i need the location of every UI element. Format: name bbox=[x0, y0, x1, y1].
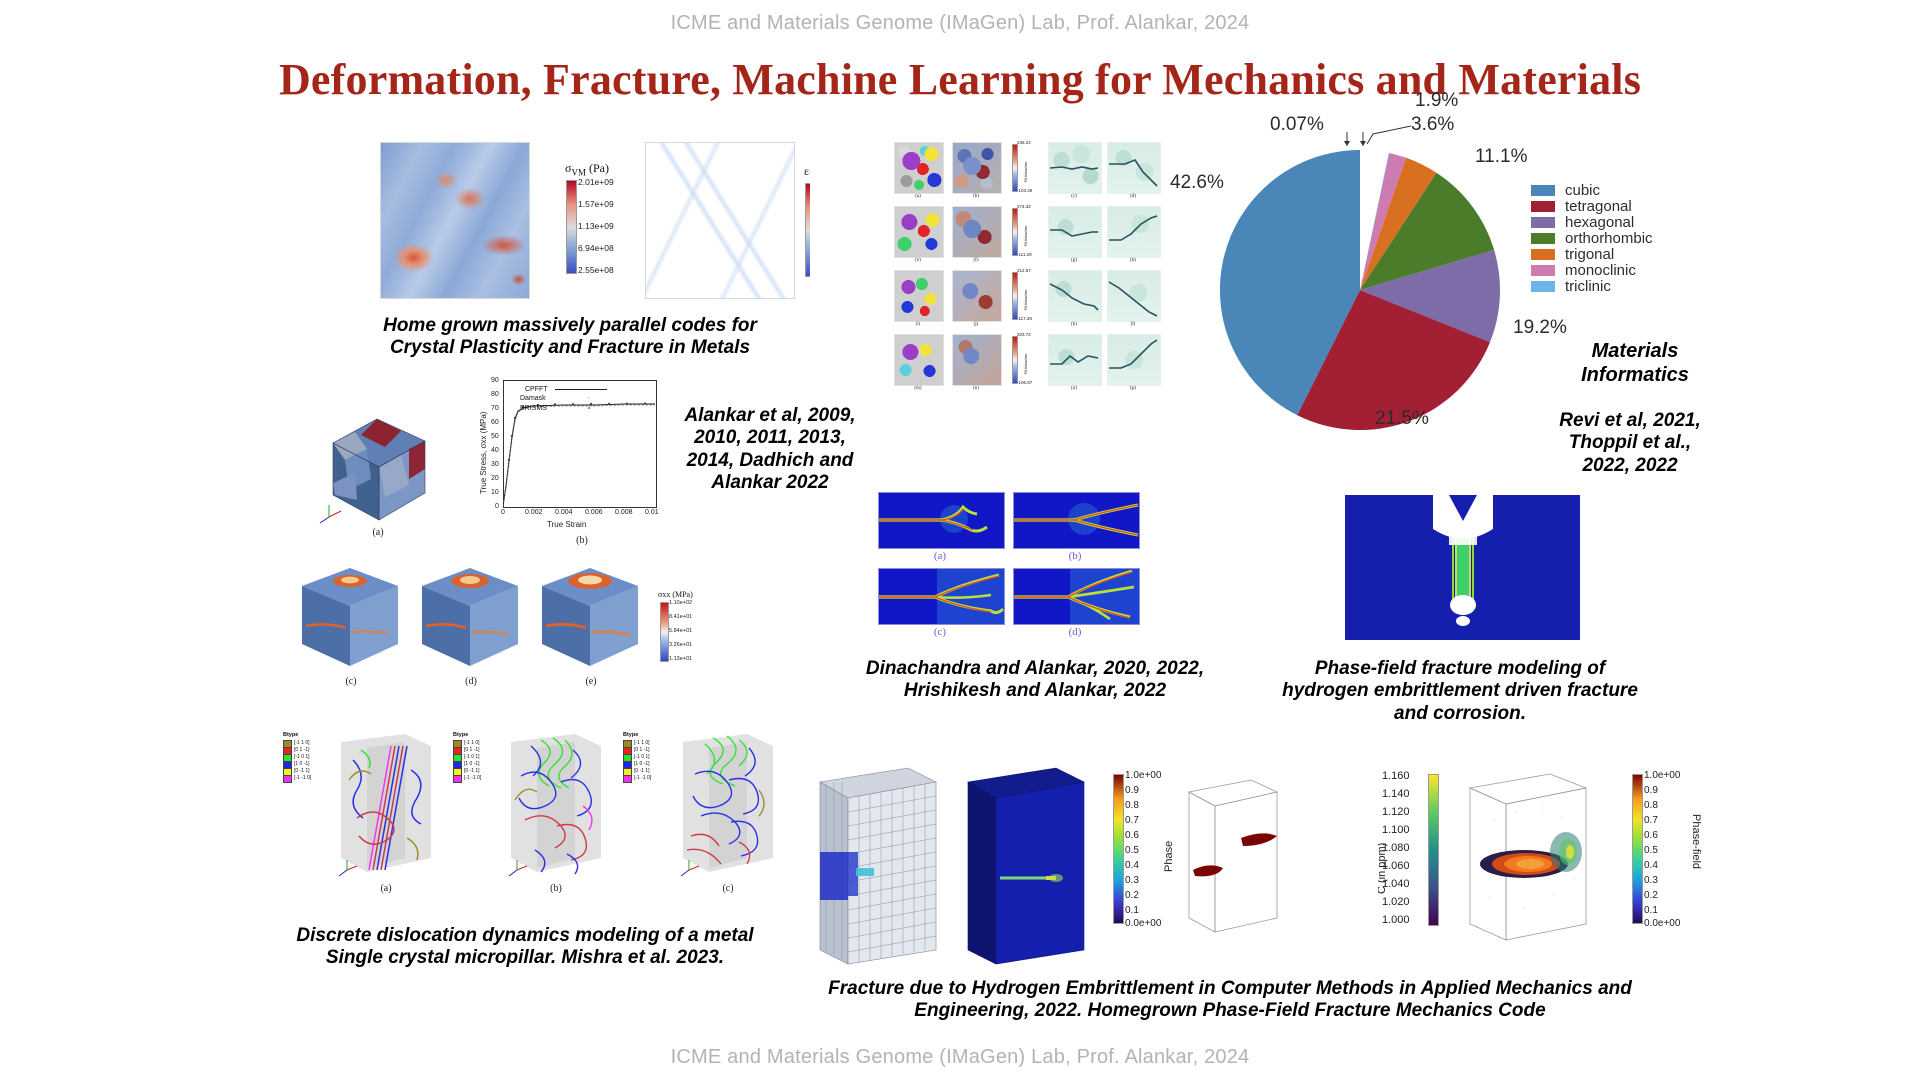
stress-tick-2: 1.13e+09 bbox=[578, 221, 614, 231]
pf-tick-3: 0.7 bbox=[1644, 815, 1658, 826]
stress-tick-4: 2.55e+08 bbox=[578, 265, 614, 275]
conc-tick-0: 1.160 bbox=[1382, 770, 1410, 782]
legend-swatch-cubic bbox=[1531, 185, 1555, 196]
legend-label-cpfft: CPFFT bbox=[525, 386, 547, 393]
ss-ytick-90: 90 bbox=[491, 377, 499, 384]
btype-label-0: [-1 1 0] bbox=[634, 740, 650, 747]
ss-xtick-001: 0.01 bbox=[645, 509, 659, 516]
phase-colorbar-1 bbox=[1113, 774, 1124, 924]
pf-tick-7: 0.3 bbox=[1644, 875, 1658, 886]
crack-path-a bbox=[879, 493, 1004, 548]
fracture-tick-3: 3.26e+01 bbox=[669, 642, 692, 648]
fracture-cubes-figure: (c) (d) (e) σxx (MPa) 1.10e+02 8.41e+01 bbox=[288, 560, 708, 710]
btype-label-1: [0 1 -1] bbox=[294, 747, 310, 754]
he-caption-line1: Fracture due to Hydrogen Embrittlement i… bbox=[780, 978, 1680, 1000]
crack-panel-c bbox=[878, 568, 1005, 625]
ref-line-1: Alankar et al, 2009, bbox=[655, 405, 885, 427]
conc-tick-1: 1.140 bbox=[1382, 788, 1410, 800]
legend-text-orthorhombic: orthorhombic bbox=[1565, 230, 1653, 247]
ref-line-3: 2014, Dadhich and bbox=[655, 450, 885, 472]
btype-legend-c: Btype [-1 1 0] [0 1 -1] [-1 0 1] [1 0 -1… bbox=[623, 732, 651, 782]
strain-colorbar-title: εVM bbox=[804, 164, 810, 180]
btype-legend-a: Btype [-1 1 0] [0 1 -1] [-1 0 1] [1 0 -1… bbox=[283, 732, 311, 782]
phase1-tick-4: 0.6 bbox=[1125, 830, 1139, 841]
legend-item-orthorhombic: orthorhombic bbox=[1531, 230, 1653, 246]
btype-label-5: [-1 -1 0] bbox=[464, 775, 481, 782]
pf-tick-4: 0.6 bbox=[1644, 830, 1658, 841]
footer-ribbon: ICME and Materials Genome (IMaGen) Lab, … bbox=[0, 1046, 1920, 1069]
cb-caption-line1: Dinachandra and Alankar, 2020, 2022, bbox=[820, 658, 1250, 680]
btype-label-3: [1 0 -1] bbox=[464, 761, 480, 768]
phase-specimen-svg bbox=[960, 760, 1090, 970]
btype-swatch-5 bbox=[453, 775, 462, 783]
ss-ytick-50: 50 bbox=[491, 433, 499, 440]
legend-text-hexagonal: hexagonal bbox=[1565, 214, 1634, 231]
btype-label-1: [0 1 -1] bbox=[634, 747, 650, 754]
phase1-tick-3: 0.7 bbox=[1125, 815, 1139, 826]
orientation-colorbar-1 bbox=[1012, 144, 1018, 192]
orientation-min-2: -111.29 bbox=[1017, 252, 1032, 257]
crack-branching-figure: (a) (b) bbox=[878, 492, 1198, 642]
btype-row: [-1 -1 0] bbox=[623, 775, 651, 782]
micro-label-l: (l) bbox=[1118, 322, 1148, 327]
legend-label-prisms: PRISMS bbox=[520, 405, 547, 412]
legend-text-trigonal: trigonal bbox=[1565, 246, 1614, 263]
legend-text-cubic: cubic bbox=[1565, 182, 1600, 199]
pillar-label-a: (a) bbox=[371, 883, 401, 894]
concentration-axis-label: C (in ppm) bbox=[1378, 843, 1388, 894]
wirebox-concentration bbox=[1454, 768, 1598, 958]
phase1-tick-6: 0.4 bbox=[1125, 860, 1139, 871]
pf-tick-2: 0.8 bbox=[1644, 800, 1658, 811]
dd-caption-line1: Discrete dislocation dynamics modeling o… bbox=[255, 925, 795, 947]
fracture-cube-d bbox=[408, 560, 526, 672]
stress-strain-reference: Alankar et al, 2009, 2010, 2011, 2013, 2… bbox=[655, 405, 885, 495]
pf-tick-6: 0.4 bbox=[1644, 860, 1658, 871]
fracture-cube-label-c: (c) bbox=[336, 676, 366, 687]
phase1-tick-7: 0.3 bbox=[1125, 875, 1139, 886]
mesh-specimen bbox=[812, 760, 942, 970]
phase1-tick-9: 0.1 bbox=[1125, 905, 1139, 916]
legend-item-cubic: cubic bbox=[1531, 182, 1653, 198]
micro-label-d: (d) bbox=[1118, 194, 1148, 199]
micro-label-c: (c) bbox=[1059, 194, 1089, 199]
pf-tick-8: 0.2 bbox=[1644, 890, 1658, 901]
orientation-label-3: Orientation bbox=[1023, 290, 1028, 311]
btype-label-3: [1 0 -1] bbox=[634, 761, 650, 768]
field-curve-k bbox=[1048, 270, 1100, 320]
phasefield-colorbar-group: 1.0e+00 0.9 0.8 0.7 0.6 0.5 0.4 0.3 0.2 … bbox=[1628, 762, 1748, 962]
orientation-label-1: Orientation bbox=[1023, 162, 1028, 183]
crack-label-d: (d) bbox=[1045, 626, 1105, 638]
field-curve-o bbox=[1048, 334, 1100, 384]
orientation-map-f bbox=[952, 206, 1002, 258]
page-title: Deformation, Fracture, Machine Learning … bbox=[0, 54, 1920, 105]
ss-legend-prisms: PRISMS ∘ bbox=[520, 404, 591, 412]
phase-field-corrosion-figure bbox=[1345, 495, 1580, 640]
ss-panel-label: (b) bbox=[567, 535, 597, 546]
ss-xtick-0: 0 bbox=[501, 509, 505, 516]
micro-label-m: (m) bbox=[903, 386, 933, 391]
btype-label-2: [-1 0 1] bbox=[464, 754, 480, 761]
phase-field-corrosion-caption: Phase-field fracture modeling of hydroge… bbox=[1270, 658, 1650, 725]
cb-caption-line2: Hrishikesh and Alankar, 2022 bbox=[820, 680, 1250, 702]
slide-canvas: ICME and Materials Genome (IMaGen) Lab, … bbox=[0, 0, 1920, 1080]
micro-label-f: (f) bbox=[961, 258, 991, 263]
pie-value-hexagonal: 19.2% bbox=[1513, 317, 1567, 339]
cp-caption-line1: Home grown massively parallel codes for bbox=[340, 315, 800, 337]
legend-label-damask: Damask bbox=[520, 395, 546, 402]
crack-label-a: (a) bbox=[910, 550, 970, 562]
stress-tick-3: 6.94e+08 bbox=[578, 243, 614, 253]
phase1-tick-10: 0.0e+00 bbox=[1125, 918, 1161, 929]
crystal-plasticity-figure: σVM (Pa) 2.01e+09 1.57e+09 1.13e+09 6.94… bbox=[380, 142, 810, 302]
concentration-wirebox: 1.160 1.140 1.120 1.100 1.080 1.060 1.04… bbox=[1378, 762, 1598, 962]
micropillar-c bbox=[671, 730, 786, 880]
pie-leader-lines bbox=[1315, 120, 1465, 180]
micro-label-p: (p) bbox=[1118, 386, 1148, 391]
mi-ref-line3: 2022, 2022 bbox=[1505, 455, 1755, 477]
orientation-map-b bbox=[952, 142, 1002, 194]
pf-tick-5: 0.5 bbox=[1644, 845, 1658, 856]
legend-swatch-triclinic bbox=[1531, 281, 1555, 292]
ss-xtick-0002: 0.002 bbox=[525, 509, 543, 516]
btype-label-4: [0 -1 1] bbox=[464, 768, 480, 775]
mi-subtitle-line2: Informatics bbox=[1525, 364, 1745, 388]
he-caption-line2: Engineering, 2022. Homegrown Phase-Field… bbox=[780, 1000, 1680, 1022]
crack-label-b: (b) bbox=[1045, 550, 1105, 562]
btype-label-0: [-1 1 0] bbox=[294, 740, 310, 747]
btype-label-0: [-1 1 0] bbox=[464, 740, 480, 747]
field-curve-c bbox=[1048, 142, 1100, 192]
von-mises-strain-map bbox=[645, 142, 795, 299]
mesh-svg bbox=[812, 760, 942, 970]
legend-swatch-hexagonal bbox=[1531, 217, 1555, 228]
field-curve-p bbox=[1107, 334, 1159, 384]
ss-ytick-10: 10 bbox=[491, 489, 499, 496]
btype-title-c: Btype bbox=[623, 732, 651, 739]
stress-tick-0: 2.01e+09 bbox=[578, 177, 614, 187]
stress-units: (Pa) bbox=[586, 161, 609, 175]
polycrystal-cube-figure: (a) bbox=[315, 405, 445, 555]
materials-informatics-reference: Revi et al, 2021, Thoppil et al., 2022, … bbox=[1505, 410, 1755, 477]
mi-subtitle-line1: Materials bbox=[1525, 340, 1745, 364]
btype-swatch-5 bbox=[283, 775, 292, 783]
pfc-caption-line3: and corrosion. bbox=[1270, 703, 1650, 725]
ss-xtick-0004: 0.004 bbox=[555, 509, 573, 516]
ss-legend-damask: Damask · bbox=[520, 395, 590, 402]
btype-title-b: Btype bbox=[453, 732, 481, 739]
concentration-colorbar bbox=[1428, 774, 1439, 926]
pillar-label-b: (b) bbox=[541, 883, 571, 894]
phase1-tick-8: 0.2 bbox=[1125, 890, 1139, 901]
voronoi-map-a-overlay bbox=[894, 142, 944, 194]
orientation-min-3: -117.29 bbox=[1017, 316, 1032, 321]
pie-value-cubic: 42.6% bbox=[1170, 172, 1224, 194]
btype-label-1: [0 1 -1] bbox=[464, 747, 480, 754]
phasefield-colorbar bbox=[1632, 774, 1643, 924]
pie-legend: cubic tetragonal hexagonal orthorhombic … bbox=[1531, 182, 1653, 294]
micro-label-i: (i) bbox=[903, 322, 933, 327]
ss-xtick-0008: 0.008 bbox=[615, 509, 633, 516]
legend-item-monoclinic: monoclinic bbox=[1531, 262, 1653, 278]
ss-ytick-30: 30 bbox=[491, 461, 499, 468]
btype-label-4: [0 -1 1] bbox=[294, 768, 310, 775]
pf-tick-0: 1.0e+00 bbox=[1644, 770, 1680, 781]
crack-path-b bbox=[1014, 493, 1139, 548]
orientation-colorbar-2 bbox=[1012, 208, 1018, 256]
crack-label-c: (c) bbox=[910, 626, 970, 638]
materials-informatics-pie: 42.6% 21.5% 19.2% 11.1% 3.6% 1.9% 0.07% … bbox=[1215, 150, 1635, 450]
pie-svg bbox=[1215, 145, 1505, 435]
micro-label-e: (e) bbox=[903, 258, 933, 263]
btype-label-5: [-1 -1 0] bbox=[294, 775, 311, 782]
pie-value-monoclinic: 1.9% bbox=[1415, 90, 1458, 112]
von-mises-stress-map bbox=[380, 142, 530, 299]
conc-tick-8: 1.000 bbox=[1382, 914, 1410, 926]
ss-ytick-70: 70 bbox=[491, 405, 499, 412]
fracture-tick-0: 1.10e+02 bbox=[669, 600, 692, 606]
micro-label-n: (n) bbox=[961, 386, 991, 391]
mi-ref-line2: Thoppil et al., bbox=[1505, 432, 1755, 454]
orientation-max-1: 236.24 bbox=[1017, 140, 1031, 145]
ss-ytick-60: 60 bbox=[491, 419, 499, 426]
ss-xtick-0006: 0.006 bbox=[585, 509, 603, 516]
micro-label-a: (a) bbox=[903, 194, 933, 199]
fracture-cube-c bbox=[288, 560, 406, 672]
pie-value-orthorhombic: 11.1% bbox=[1475, 146, 1527, 168]
pillar-label-c: (c) bbox=[713, 883, 743, 894]
pfc-caption-line2: hydrogen embrittlement driven fracture bbox=[1270, 680, 1650, 702]
btype-title-a: Btype bbox=[283, 732, 311, 739]
crack-path-d bbox=[1014, 569, 1139, 624]
stress-strain-chart: CPFFT Damask · PRISMS ∘ 90 80 70 60 50 4… bbox=[463, 372, 673, 552]
ref-line-2: 2010, 2011, 2013, bbox=[655, 427, 885, 449]
phase1-tick-5: 0.5 bbox=[1125, 845, 1139, 856]
orientation-label-4: Orientation bbox=[1023, 354, 1028, 375]
orientation-label-2: Orientation bbox=[1023, 226, 1028, 247]
phase1-tick-1: 0.9 bbox=[1125, 785, 1139, 796]
btype-label-2: [-1 0 1] bbox=[294, 754, 310, 761]
crack-panel-d bbox=[1013, 568, 1140, 625]
phase1-tick-0: 1.0e+00 bbox=[1125, 770, 1161, 781]
pf-tick-9: 0.1 bbox=[1644, 905, 1658, 916]
dislocation-pillars-figure: Btype [-1 1 0] [0 1 -1] [-1 0 1] [1 0 -1… bbox=[275, 728, 795, 908]
ss-ytick-20: 20 bbox=[491, 475, 499, 482]
legend-swatch-tetragonal bbox=[1531, 201, 1555, 212]
orientation-map-j bbox=[952, 270, 1002, 322]
pfc-caption-line1: Phase-field fracture modeling of bbox=[1270, 658, 1650, 680]
conc-tick-3: 1.100 bbox=[1382, 824, 1410, 836]
fracture-tick-2: 5.84e+01 bbox=[669, 628, 692, 634]
crack-path-c bbox=[879, 569, 1004, 624]
micro-label-b: (b) bbox=[961, 194, 991, 199]
cube-panel-label: (a) bbox=[363, 527, 393, 538]
phase-field-specimen bbox=[960, 760, 1090, 970]
voronoi-map-i bbox=[894, 270, 944, 322]
dd-caption-line2: Single crystal micropillar. Mishra et al… bbox=[255, 947, 795, 969]
orientation-map-n bbox=[952, 334, 1002, 386]
dislocation-caption: Discrete dislocation dynamics modeling o… bbox=[255, 925, 795, 970]
phase1-tick-2: 0.8 bbox=[1125, 800, 1139, 811]
legend-text-triclinic: triclinic bbox=[1565, 278, 1611, 295]
fracture-colorbar-title: σxx (MPa) bbox=[658, 590, 693, 599]
wirebox-1 bbox=[1175, 770, 1283, 950]
strain-colorbar bbox=[805, 183, 810, 277]
mi-ref-line1: Revi et al, 2021, bbox=[1505, 410, 1755, 432]
micro-label-j: (j) bbox=[961, 322, 991, 327]
legend-swatch-monoclinic bbox=[1531, 265, 1555, 276]
fracture-cube-label-d: (d) bbox=[456, 676, 486, 687]
legend-item-trigonal: trigonal bbox=[1531, 246, 1653, 262]
legend-item-tetragonal: tetragonal bbox=[1531, 198, 1653, 214]
stress-tick-1: 1.57e+09 bbox=[578, 199, 614, 209]
legend-text-monoclinic: monoclinic bbox=[1565, 262, 1636, 279]
btype-row: [-1 -1 0] bbox=[453, 775, 481, 782]
conc-tick-7: 1.020 bbox=[1382, 896, 1410, 908]
header-ribbon: ICME and Materials Genome (IMaGen) Lab, … bbox=[0, 12, 1920, 35]
micro-label-h: (h) bbox=[1118, 258, 1148, 263]
field-curve-l bbox=[1107, 270, 1159, 320]
legend-swatch-trigonal bbox=[1531, 249, 1555, 260]
legend-item-hexagonal: hexagonal bbox=[1531, 214, 1653, 230]
crack-panel-b bbox=[1013, 492, 1140, 549]
crack-branching-caption: Dinachandra and Alankar, 2020, 2022, Hri… bbox=[820, 658, 1250, 703]
pf-tick-1: 0.9 bbox=[1644, 785, 1658, 796]
hydrogen-embrittlement-caption: Fracture due to Hydrogen Embrittlement i… bbox=[780, 978, 1680, 1023]
micro-label-k: (k) bbox=[1059, 322, 1089, 327]
grain-cube-svg bbox=[315, 405, 445, 530]
micro-label-o: (o) bbox=[1059, 386, 1089, 391]
phasefield-axis-label: Phase-field bbox=[1690, 814, 1702, 869]
micro-label-g: (g) bbox=[1059, 258, 1089, 263]
orientation-max-4: 203.72 bbox=[1017, 332, 1031, 337]
btype-label-5: [-1 -1 0] bbox=[634, 775, 651, 782]
voronoi-map-m bbox=[894, 334, 944, 386]
field-curve-d bbox=[1107, 142, 1159, 192]
fracture-tick-1: 8.41e+01 bbox=[669, 614, 692, 620]
legend-item-triclinic: triclinic bbox=[1531, 278, 1653, 294]
orientation-max-3: 212.57 bbox=[1017, 268, 1031, 273]
orientation-min-1: -103.49 bbox=[1017, 188, 1032, 193]
corrosion-field bbox=[1345, 495, 1580, 640]
ss-xaxis-label: True Strain bbox=[547, 520, 586, 529]
cp-caption-line2: Crystal Plasticity and Fracture in Metal… bbox=[340, 337, 800, 359]
ref-line-4: Alankar 2022 bbox=[655, 472, 885, 494]
phase1-axis-label: Phase bbox=[1163, 841, 1175, 872]
micropillar-b bbox=[501, 730, 611, 880]
btype-label-4: [0 -1 1] bbox=[634, 768, 650, 775]
phase-wirebox-1: 1.0e+00 0.9 0.8 0.7 0.6 0.5 0.4 0.3 0.2 … bbox=[1105, 762, 1285, 962]
btype-swatch-5 bbox=[623, 775, 632, 783]
ss-yaxis-label: True Stress, σxx (MPa) bbox=[479, 412, 488, 494]
legend-swatch-orthorhombic bbox=[1531, 233, 1555, 244]
btype-label-3: [1 0 -1] bbox=[294, 761, 310, 768]
ss-legend-cpfft: CPFFT bbox=[525, 386, 607, 393]
ss-ytick-40: 40 bbox=[491, 447, 499, 454]
orientation-max-2: 274.32 bbox=[1017, 204, 1031, 209]
orientation-colorbar-4 bbox=[1012, 336, 1018, 384]
btype-label-2: [-1 0 1] bbox=[634, 754, 650, 761]
fracture-cube-e bbox=[528, 560, 646, 672]
crystal-plasticity-caption: Home grown massively parallel codes for … bbox=[340, 315, 800, 360]
pie-value-tetragonal: 21.5% bbox=[1375, 408, 1429, 430]
field-curve-g bbox=[1048, 206, 1100, 256]
stress-colorbar bbox=[566, 180, 577, 274]
fracture-colorbar bbox=[660, 602, 669, 662]
btype-row: [-1 -1 0] bbox=[283, 775, 311, 782]
ss-ytick-80: 80 bbox=[491, 391, 499, 398]
ss-ytick-0: 0 bbox=[495, 503, 499, 510]
sigma-subscript: VM bbox=[571, 167, 586, 177]
crack-panel-a bbox=[878, 492, 1005, 549]
fracture-tick-4: 1.13e+01 bbox=[669, 656, 692, 662]
conc-tick-2: 1.120 bbox=[1382, 806, 1410, 818]
legend-text-tetragonal: tetragonal bbox=[1565, 198, 1632, 215]
pf-tick-10: 0.0e+00 bbox=[1644, 918, 1680, 929]
materials-informatics-subtitle: Materials Informatics bbox=[1525, 340, 1745, 387]
fracture-cube-label-e: (e) bbox=[576, 676, 606, 687]
orientation-colorbar-3 bbox=[1012, 272, 1018, 320]
field-curve-h bbox=[1107, 206, 1159, 256]
epsilon-subscript: VM bbox=[809, 170, 810, 180]
voronoi-map-e bbox=[894, 206, 944, 258]
micropillar-a bbox=[331, 730, 441, 880]
microstructure-ml-grid: 236.24 -103.49 Orientation (a) (b) (c) (… bbox=[890, 138, 1190, 438]
stress-colorbar-title: σVM (Pa) bbox=[565, 161, 609, 177]
orientation-min-4: -106.87 bbox=[1017, 380, 1032, 385]
btype-legend-b: Btype [-1 1 0] [0 1 -1] [-1 0 1] [1 0 -1… bbox=[453, 732, 481, 782]
